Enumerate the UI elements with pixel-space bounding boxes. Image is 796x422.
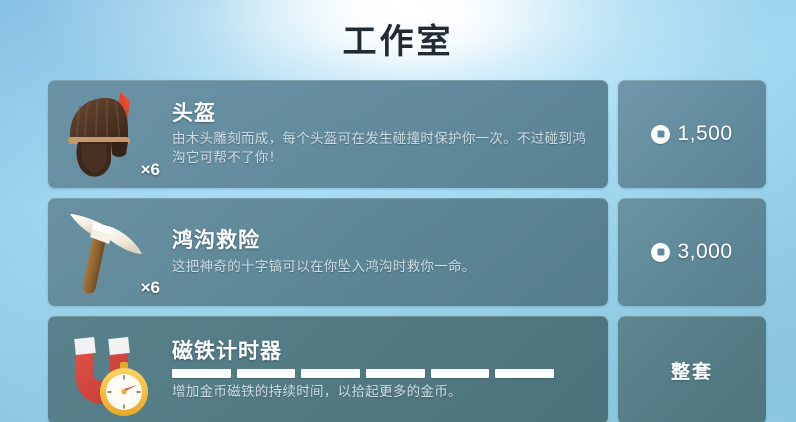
full-set-button-magnet-timer[interactable]: 整套 bbox=[618, 316, 766, 422]
item-name: 头盔 bbox=[172, 101, 592, 127]
upgrade-segment bbox=[431, 369, 490, 378]
price-label: 3,000 bbox=[677, 240, 732, 264]
upgrade-segment bbox=[172, 369, 231, 378]
stopwatch-shape bbox=[100, 362, 148, 416]
upgrade-progress-bar bbox=[172, 369, 554, 378]
upgrade-segment bbox=[237, 369, 296, 378]
item-name: 磁铁计时器 bbox=[172, 339, 592, 365]
shop-item-list: ×6 头盔 由木头雕刻而成，每个头盔可在发生碰撞时保护你一次。不过碰到鸿沟它可帮… bbox=[48, 80, 766, 422]
coin-icon bbox=[651, 243, 670, 262]
magnet-timer-icon bbox=[56, 320, 156, 420]
buy-button-helmet[interactable]: 1,500 bbox=[618, 80, 766, 188]
button-label: 整套 bbox=[671, 357, 713, 384]
upgrade-segment bbox=[366, 369, 425, 378]
list-item: ×6 头盔 由木头雕刻而成，每个头盔可在发生碰撞时保护你一次。不过碰到鸿沟它可帮… bbox=[48, 80, 766, 188]
page-title: 工作室 bbox=[0, 14, 796, 63]
list-item: ×6 鸿沟救险 这把神奇的十字镐可以在你坠入鸿沟时救你一命。 3,000 bbox=[48, 198, 766, 306]
coin-icon bbox=[651, 125, 670, 144]
item-text-cell: 头盔 由木头雕刻而成，每个头盔可在发生碰撞时保护你一次。不过碰到鸿沟它可帮不了你… bbox=[166, 95, 608, 174]
list-item: 磁铁计时器 增加金币磁铁的持续时间，以拾起更多的金币。 整套 bbox=[48, 316, 766, 422]
item-card-gap-rescue[interactable]: ×6 鸿沟救险 这把神奇的十字镐可以在你坠入鸿沟时救你一命。 bbox=[48, 198, 608, 306]
item-icon-cell: ×6 bbox=[48, 198, 166, 306]
upgrade-segment bbox=[495, 369, 554, 378]
price-label: 1,500 bbox=[677, 122, 732, 146]
item-icon-cell: ×6 bbox=[48, 80, 166, 188]
item-text-cell: 鸿沟救险 这把神奇的十字镐可以在你坠入鸿沟时救你一命。 bbox=[166, 222, 608, 281]
item-icon-cell bbox=[48, 316, 166, 422]
buy-button-gap-rescue[interactable]: 3,000 bbox=[618, 198, 766, 306]
item-name: 鸿沟救险 bbox=[172, 228, 592, 254]
item-description: 这把神奇的十字镐可以在你坠入鸿沟时救你一命。 bbox=[172, 257, 592, 276]
item-description: 增加金币磁铁的持续时间，以拾起更多的金币。 bbox=[172, 382, 592, 401]
item-count-badge: ×6 bbox=[141, 278, 160, 298]
item-card-helmet[interactable]: ×6 头盔 由木头雕刻而成，每个头盔可在发生碰撞时保护你一次。不过碰到鸿沟它可帮… bbox=[48, 80, 608, 188]
upgrade-segment bbox=[301, 369, 360, 378]
item-text-cell: 磁铁计时器 增加金币磁铁的持续时间，以拾起更多的金币。 bbox=[166, 333, 608, 406]
item-description: 由木头雕刻而成，每个头盔可在发生碰撞时保护你一次。不过碰到鸿沟它可帮不了你！ bbox=[172, 129, 592, 167]
item-count-badge: ×6 bbox=[141, 160, 160, 180]
item-card-magnet-timer[interactable]: 磁铁计时器 增加金币磁铁的持续时间，以拾起更多的金币。 bbox=[48, 316, 608, 422]
